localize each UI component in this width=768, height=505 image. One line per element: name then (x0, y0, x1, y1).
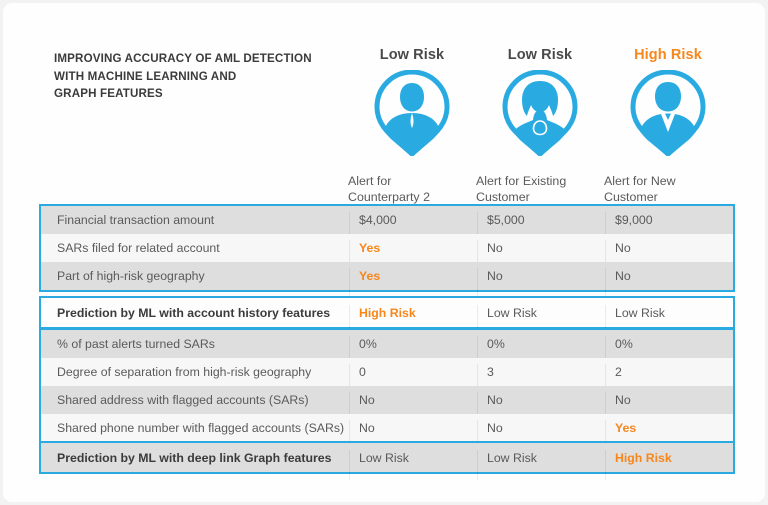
person-male-collar-pin-icon (604, 70, 732, 160)
table-row: Financial transaction amount $4,000 $5,0… (41, 206, 733, 234)
feature-group-account-history: Financial transaction amount $4,000 $5,0… (39, 204, 735, 292)
page-title-line-2: WITH MACHINE LEARNING AND (54, 68, 334, 86)
alert-caption-0: Alert for Counterparty 2 (348, 173, 470, 205)
table-row: SARs filed for related account Yes No No (41, 234, 733, 262)
alert-caption-1: Alert for Existing Customer (476, 173, 598, 205)
alert-caption-0-line-2: Counterparty 2 (348, 189, 470, 205)
row-label: Part of high-risk geography (41, 269, 349, 283)
table-row: Prediction by ML with account history fe… (41, 298, 733, 327)
prediction-row-account-history: Prediction by ML with account history fe… (39, 296, 735, 329)
risk-label-2: High Risk (604, 47, 732, 63)
row-value-2: 2 (605, 365, 733, 379)
row-value-1: No (477, 421, 605, 435)
column-header-2: High Risk (604, 47, 732, 160)
row-value-0: 0 (349, 365, 477, 379)
row-value-0: No (349, 421, 477, 435)
row-value-0: 0% (349, 337, 477, 351)
row-label: % of past alerts turned SARs (41, 337, 349, 351)
risk-label-1: Low Risk (476, 47, 604, 63)
row-label: Prediction by ML with account history fe… (41, 306, 349, 320)
table-row: Prediction by ML with deep link Graph fe… (41, 443, 733, 472)
table-row: % of past alerts turned SARs 0% 0% 0% (41, 330, 733, 358)
row-value-2: Low Risk (605, 306, 733, 320)
row-value-2: 0% (605, 337, 733, 351)
alert-caption-2-line-1: Alert for New (604, 173, 726, 189)
feature-group-graph-features: % of past alerts turned SARs 0% 0% 0% De… (39, 328, 735, 444)
row-value-1: Low Risk (477, 306, 605, 320)
row-value-2: $9,000 (605, 213, 733, 227)
row-value-1: 3 (477, 365, 605, 379)
table-row: Shared address with flagged accounts (SA… (41, 386, 733, 414)
page-title-line-1: IMPROVING ACCURACY OF AML DETECTION (54, 50, 334, 68)
row-value-0: $4,000 (349, 213, 477, 227)
row-value-2: No (605, 393, 733, 407)
row-label: Financial transaction amount (41, 213, 349, 227)
alert-caption-2-line-2: Customer (604, 189, 726, 205)
table-row: Degree of separation from high-risk geog… (41, 358, 733, 386)
table-row: Part of high-risk geography Yes No No (41, 262, 733, 290)
page-title: IMPROVING ACCURACY OF AML DETECTION WITH… (54, 50, 334, 103)
row-value-2: Yes (605, 421, 733, 435)
row-label: Shared address with flagged accounts (SA… (41, 393, 349, 407)
row-value-1: No (477, 269, 605, 283)
column-header-0: Low Risk (348, 47, 476, 160)
row-value-1: Low Risk (477, 451, 605, 465)
row-value-1: No (477, 241, 605, 255)
column-header-1: Low Risk (476, 47, 604, 160)
row-label: SARs filed for related account (41, 241, 349, 255)
prediction-row-graph-features: Prediction by ML with deep link Graph fe… (39, 441, 735, 474)
row-value-0: Low Risk (349, 451, 477, 465)
row-label: Degree of separation from high-risk geog… (41, 365, 349, 379)
row-value-0: Yes (349, 241, 477, 255)
row-value-2: No (605, 241, 733, 255)
person-female-pin-icon (476, 70, 604, 160)
alert-caption-1-line-2: Customer (476, 189, 598, 205)
row-value-0: High Risk (349, 306, 477, 320)
row-value-2: High Risk (605, 451, 733, 465)
row-value-0: No (349, 393, 477, 407)
row-value-1: $5,000 (477, 213, 605, 227)
page-title-line-3: GRAPH FEATURES (54, 85, 334, 103)
row-value-0: Yes (349, 269, 477, 283)
infographic-card: IMPROVING ACCURACY OF AML DETECTION WITH… (3, 3, 765, 502)
row-value-2: No (605, 269, 733, 283)
person-male-pin-icon (348, 70, 476, 160)
row-value-1: No (477, 393, 605, 407)
row-value-1: 0% (477, 337, 605, 351)
alert-caption-2: Alert for New Customer (604, 173, 726, 205)
table-row: Shared phone number with flagged account… (41, 414, 733, 442)
alert-caption-1-line-1: Alert for Existing (476, 173, 598, 189)
row-label: Prediction by ML with deep link Graph fe… (41, 451, 349, 465)
risk-label-0: Low Risk (348, 47, 476, 63)
alert-caption-0-line-1: Alert for (348, 173, 470, 189)
row-label: Shared phone number with flagged account… (41, 421, 349, 435)
